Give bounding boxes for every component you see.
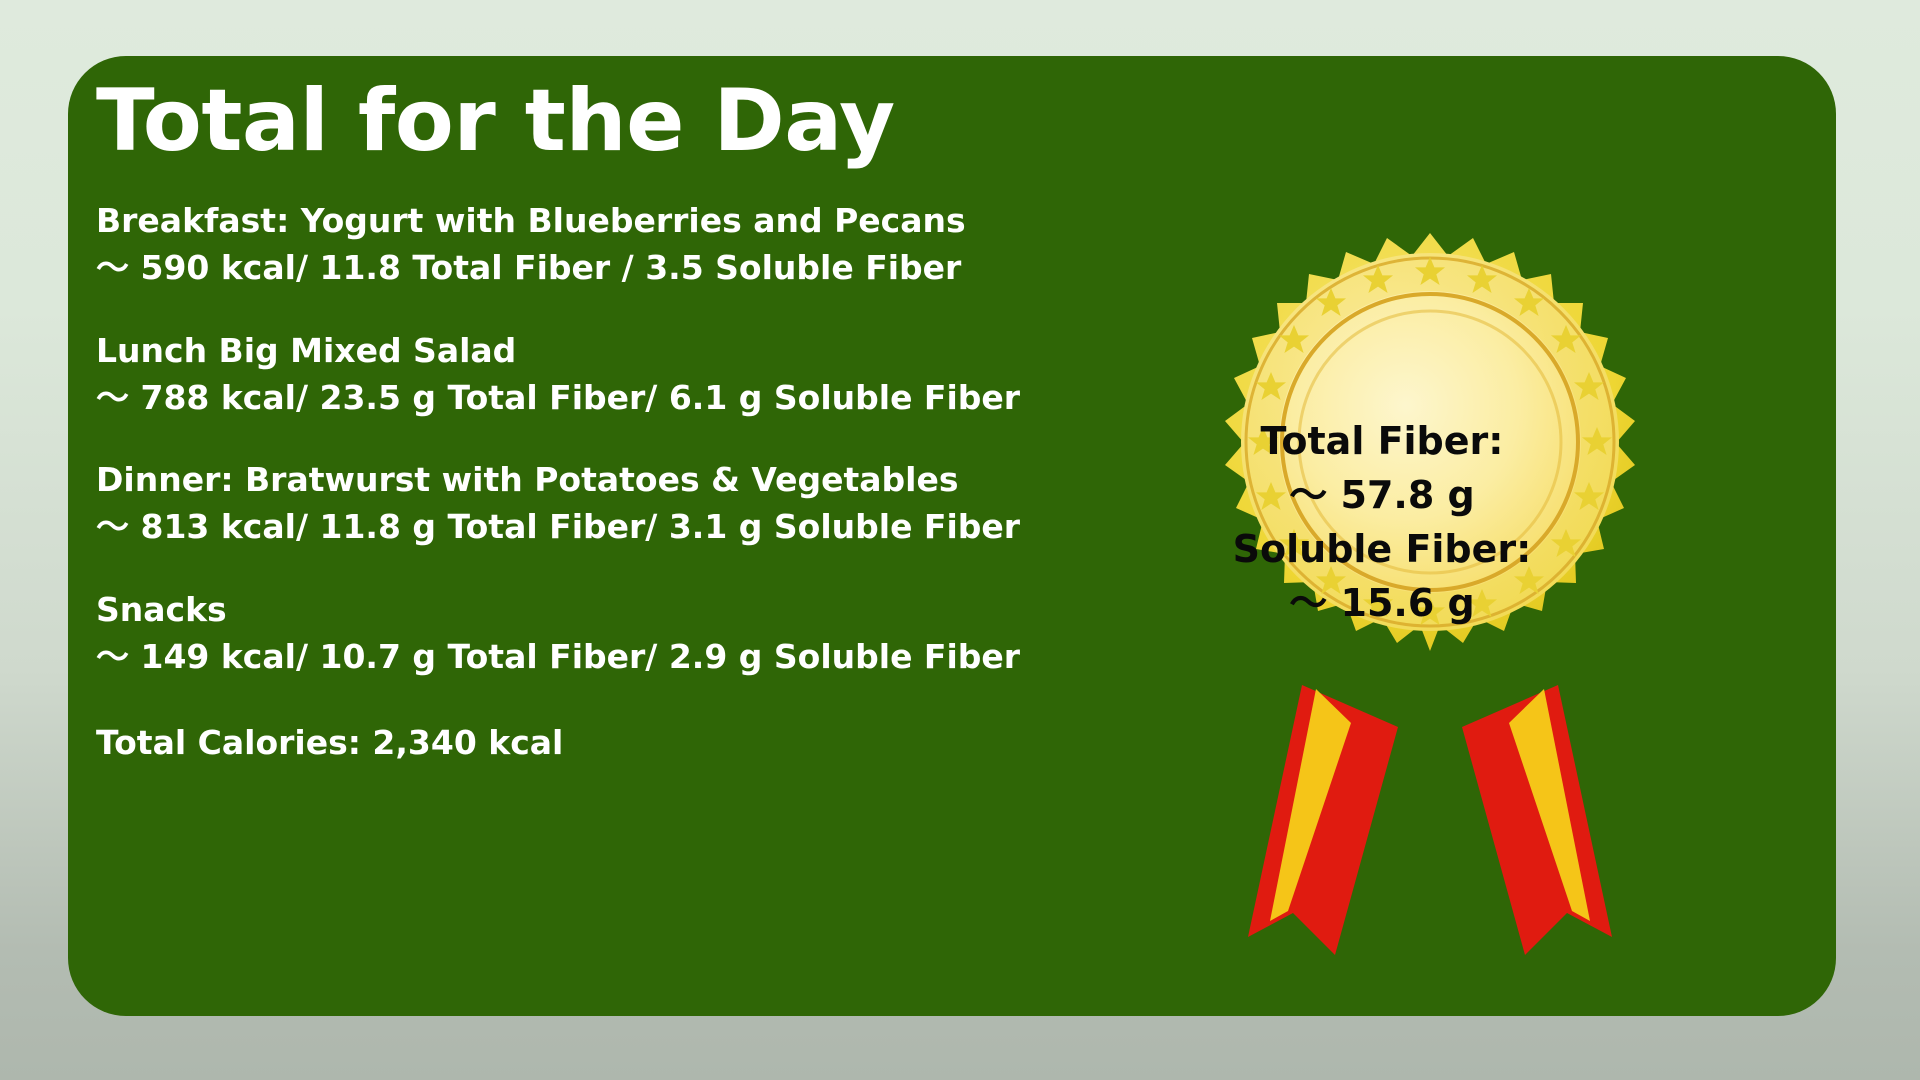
text-column: Total for the Day Breakfast: Yogurt with… (96, 78, 1096, 762)
meal-name: Lunch Big Mixed Salad (96, 328, 1096, 375)
meal-nutrition: 〜 813 kcal/ 11.8 g Total Fiber/ 3.1 g So… (96, 504, 1096, 551)
meal-nutrition: 〜 149 kcal/ 10.7 g Total Fiber/ 2.9 g So… (96, 634, 1096, 681)
meal-name: Dinner: Bratwurst with Potatoes & Vegeta… (96, 457, 1096, 504)
meal-nutrition: 〜 590 kcal/ 11.8 Total Fiber / 3.5 Solub… (96, 245, 1096, 292)
meal-nutrition: 〜 788 kcal/ 23.5 g Total Fiber/ 6.1 g So… (96, 375, 1096, 422)
meal-name: Snacks (96, 587, 1096, 634)
award-rosette-icon (1130, 215, 1730, 955)
meal-block-breakfast: Breakfast: Yogurt with Blueberries and P… (96, 198, 1096, 292)
ribbon-left (1248, 685, 1398, 955)
ribbon-right (1462, 685, 1612, 955)
total-calories: Total Calories: 2,340 kcal (96, 723, 1096, 762)
meal-block-dinner: Dinner: Bratwurst with Potatoes & Vegeta… (96, 457, 1096, 551)
page-title: Total for the Day (96, 78, 1096, 164)
meal-name: Breakfast: Yogurt with Blueberries and P… (96, 198, 1096, 245)
meal-block-lunch: Lunch Big Mixed Salad 〜 788 kcal/ 23.5 g… (96, 328, 1096, 422)
meal-block-snacks: Snacks 〜 149 kcal/ 10.7 g Total Fiber/ 2… (96, 587, 1096, 681)
slide-root: Total for the Day Breakfast: Yogurt with… (0, 0, 1920, 1080)
